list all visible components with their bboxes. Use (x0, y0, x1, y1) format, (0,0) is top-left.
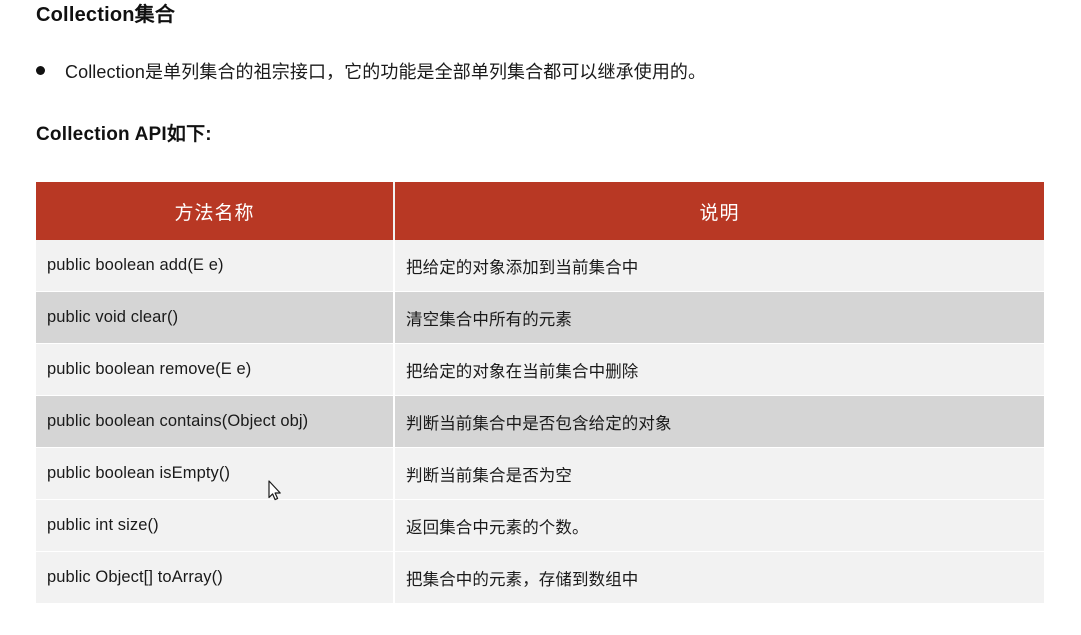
table-row: public int size()返回集合中元素的个数。 (36, 500, 1044, 552)
cell-description: 把集合中的元素，存储到数组中 (394, 552, 1044, 604)
column-header-method: 方法名称 (36, 182, 394, 240)
table-header: 方法名称 说明 (36, 182, 1044, 240)
column-header-description: 说明 (394, 182, 1044, 240)
cell-description: 清空集合中所有的元素 (394, 292, 1044, 344)
cell-method: public boolean isEmpty() (36, 448, 394, 500)
cell-description: 判断当前集合中是否包含给定的对象 (394, 396, 1044, 448)
table-row: public boolean add(E e)把给定的对象添加到当前集合中 (36, 240, 1044, 292)
table-row: public boolean remove(E e)把给定的对象在当前集合中删除 (36, 344, 1044, 396)
cell-method: public void clear() (36, 292, 394, 344)
bullet-list-item-text: Collection是单列集合的祖宗接口，它的功能是全部单列集合都可以继承使用的… (65, 60, 706, 84)
cell-method: public boolean contains(Object obj) (36, 396, 394, 448)
table-row: public boolean contains(Object obj)判断当前集… (36, 396, 1044, 448)
table-header-row: 方法名称 说明 (36, 182, 1044, 240)
cell-description: 把给定的对象在当前集合中删除 (394, 344, 1044, 396)
cell-description: 返回集合中元素的个数。 (394, 500, 1044, 552)
page-title: Collection集合 (36, 2, 175, 28)
table-row: public Object[] toArray()把集合中的元素，存储到数组中 (36, 552, 1044, 604)
cell-method: public boolean add(E e) (36, 240, 394, 292)
bullet-list-item: Collection是单列集合的祖宗接口，它的功能是全部单列集合都可以继承使用的… (36, 60, 706, 84)
table-row: public void clear()清空集合中所有的元素 (36, 292, 1044, 344)
cell-method: public int size() (36, 500, 394, 552)
collection-api-table: 方法名称 说明 public boolean add(E e)把给定的对象添加到… (36, 182, 1044, 604)
slide-page: Collection集合 Collection是单列集合的祖宗接口，它的功能是全… (0, 0, 1081, 635)
bullet-dot-icon (36, 66, 45, 75)
section-title-api: Collection API如下: (36, 122, 212, 148)
cell-method: public Object[] toArray() (36, 552, 394, 604)
cell-description: 把给定的对象添加到当前集合中 (394, 240, 1044, 292)
cell-description: 判断当前集合是否为空 (394, 448, 1044, 500)
table-row: public boolean isEmpty()判断当前集合是否为空 (36, 448, 1044, 500)
table-body: public boolean add(E e)把给定的对象添加到当前集合中pub… (36, 240, 1044, 604)
cell-method: public boolean remove(E e) (36, 344, 394, 396)
